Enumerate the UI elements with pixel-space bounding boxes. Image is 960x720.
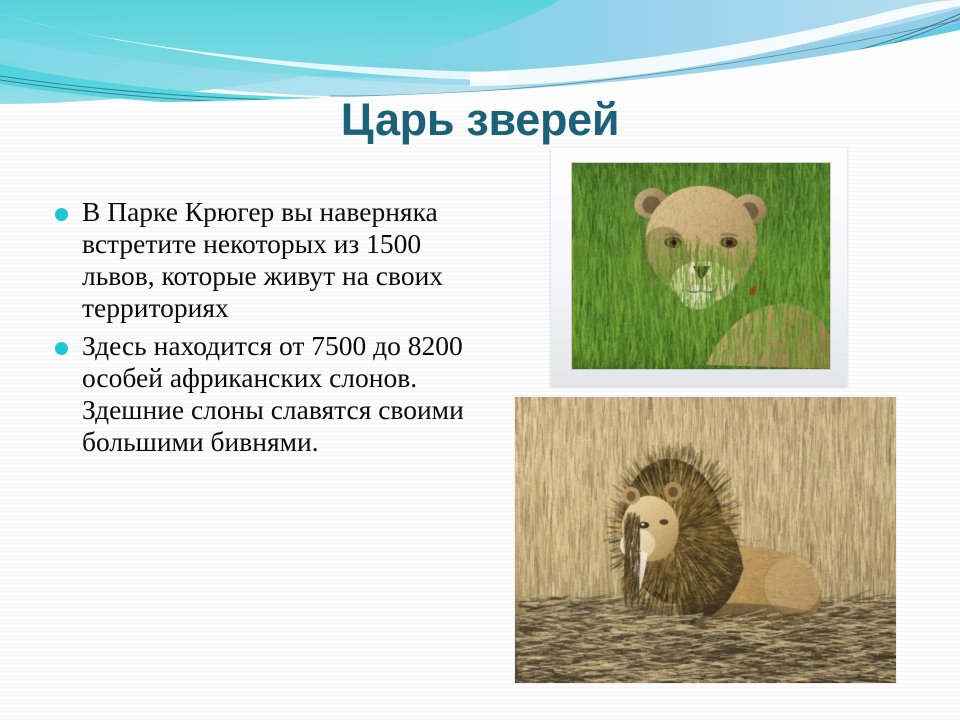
male-lion-photo-canvas [515, 397, 896, 683]
slide-title: Царь зверей [0, 96, 960, 143]
bullet-list: В Парке Крюгер вы наверняка встретите не… [46, 196, 498, 464]
bullet-marker-icon [55, 208, 68, 221]
lioness-photo-frame [551, 148, 847, 386]
bullet-marker-icon [55, 342, 68, 355]
bullet-item-2: Здесь находится от 7500 до 8200 особей а… [46, 330, 498, 458]
presentation-slide: Царь зверей В Парке Крюгер вы наверняка … [0, 0, 960, 720]
lioness-in-grass-photo [571, 162, 831, 370]
bullet-item-1: В Парке Крюгер вы наверняка встретите не… [46, 196, 498, 324]
bullet-item-2-text: Здесь находится от 7500 до 8200 особей а… [82, 330, 498, 458]
male-lion-photo [515, 397, 896, 683]
bullet-item-1-text: В Парке Крюгер вы наверняка встретите не… [82, 196, 498, 324]
lioness-photo-canvas [572, 163, 830, 369]
